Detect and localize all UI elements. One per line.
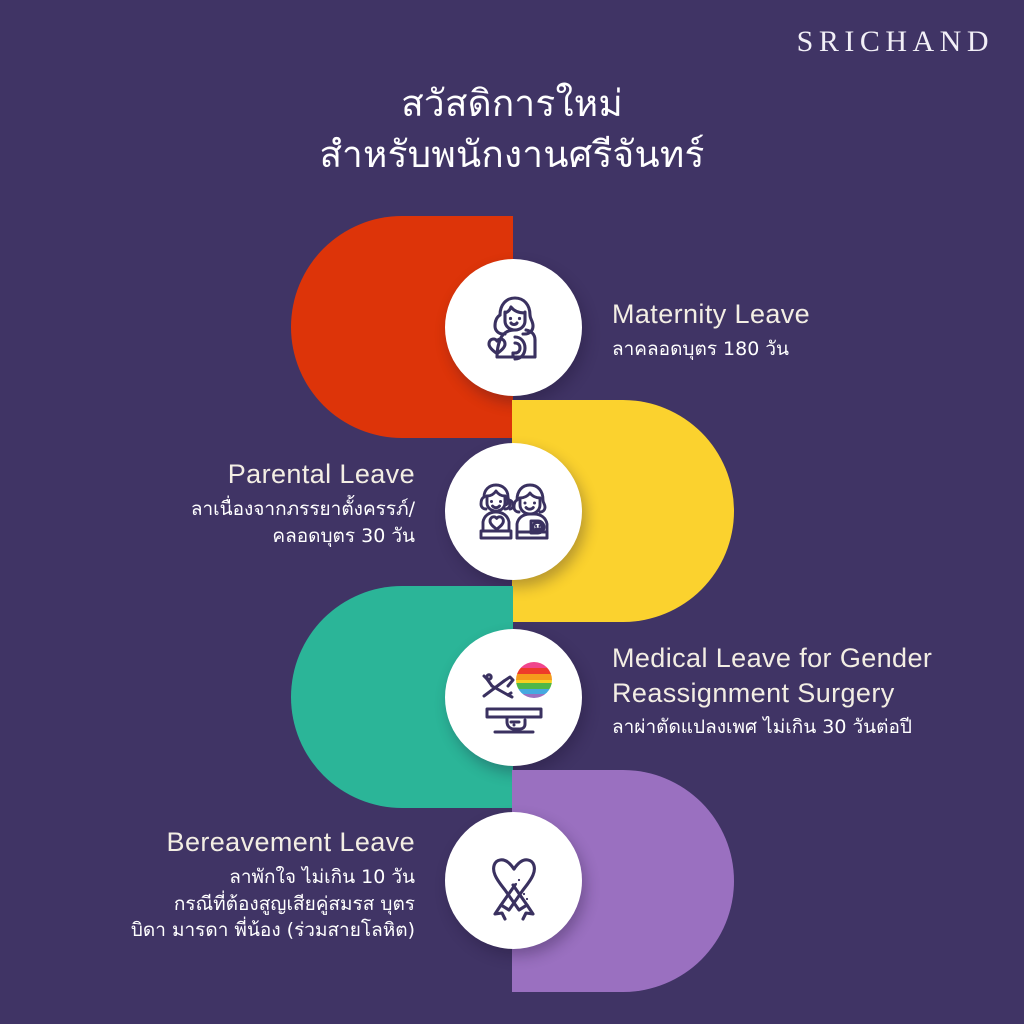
awareness-ribbon-icon bbox=[469, 836, 559, 926]
node-medical bbox=[445, 629, 582, 766]
parents-with-baby-icon bbox=[468, 466, 560, 558]
benefit-detail-parental: ลาเนื่องจากภรรยาตั้งครรภ์/ คลอดบุตร 30 ว… bbox=[191, 496, 415, 550]
benefit-text-parental: Parental Leave ลาเนื่องจากภรรยาตั้งครรภ์… bbox=[191, 457, 415, 549]
benefit-text-bereavement: Bereavement Leave ลาพักใจ ไม่เกิน 10 วัน… bbox=[131, 825, 415, 944]
node-bereavement bbox=[445, 812, 582, 949]
node-parental bbox=[445, 443, 582, 580]
benefit-detail-bereavement: ลาพักใจ ไม่เกิน 10 วัน กรณีที่ต้องสูญเสี… bbox=[131, 864, 415, 945]
benefit-title-bereavement: Bereavement Leave bbox=[131, 825, 415, 860]
benefit-title-medical: Medical Leave for Gender bbox=[612, 641, 932, 676]
pride-flag-circle bbox=[516, 662, 552, 699]
node-maternity bbox=[445, 259, 582, 396]
benefit-detail-maternity: ลาคลอดบุตร 180 วัน bbox=[612, 336, 810, 363]
benefit-title-medical-line2: Reassignment Surgery bbox=[612, 676, 932, 711]
benefits-timeline: Maternity Leave ลาคลอดบุตร 180 วัน bbox=[0, 0, 1024, 1024]
benefit-detail-medical: ลาผ่าตัดแปลงเพศ ไม่เกิน 30 วันต่อปี bbox=[612, 714, 932, 741]
benefit-text-medical: Medical Leave for Gender Reassignment Su… bbox=[612, 641, 932, 741]
benefit-text-maternity: Maternity Leave ลาคลอดบุตร 180 วัน bbox=[612, 297, 810, 363]
benefit-title-maternity: Maternity Leave bbox=[612, 297, 810, 332]
benefit-title-parental: Parental Leave bbox=[191, 457, 415, 492]
infographic-canvas: SRICHAND สวัสดิการใหม่ สำหรับพนักงานศรีจ… bbox=[0, 0, 1024, 1024]
surgery-pride-icon bbox=[467, 651, 561, 745]
pregnant-woman-icon bbox=[468, 282, 560, 374]
